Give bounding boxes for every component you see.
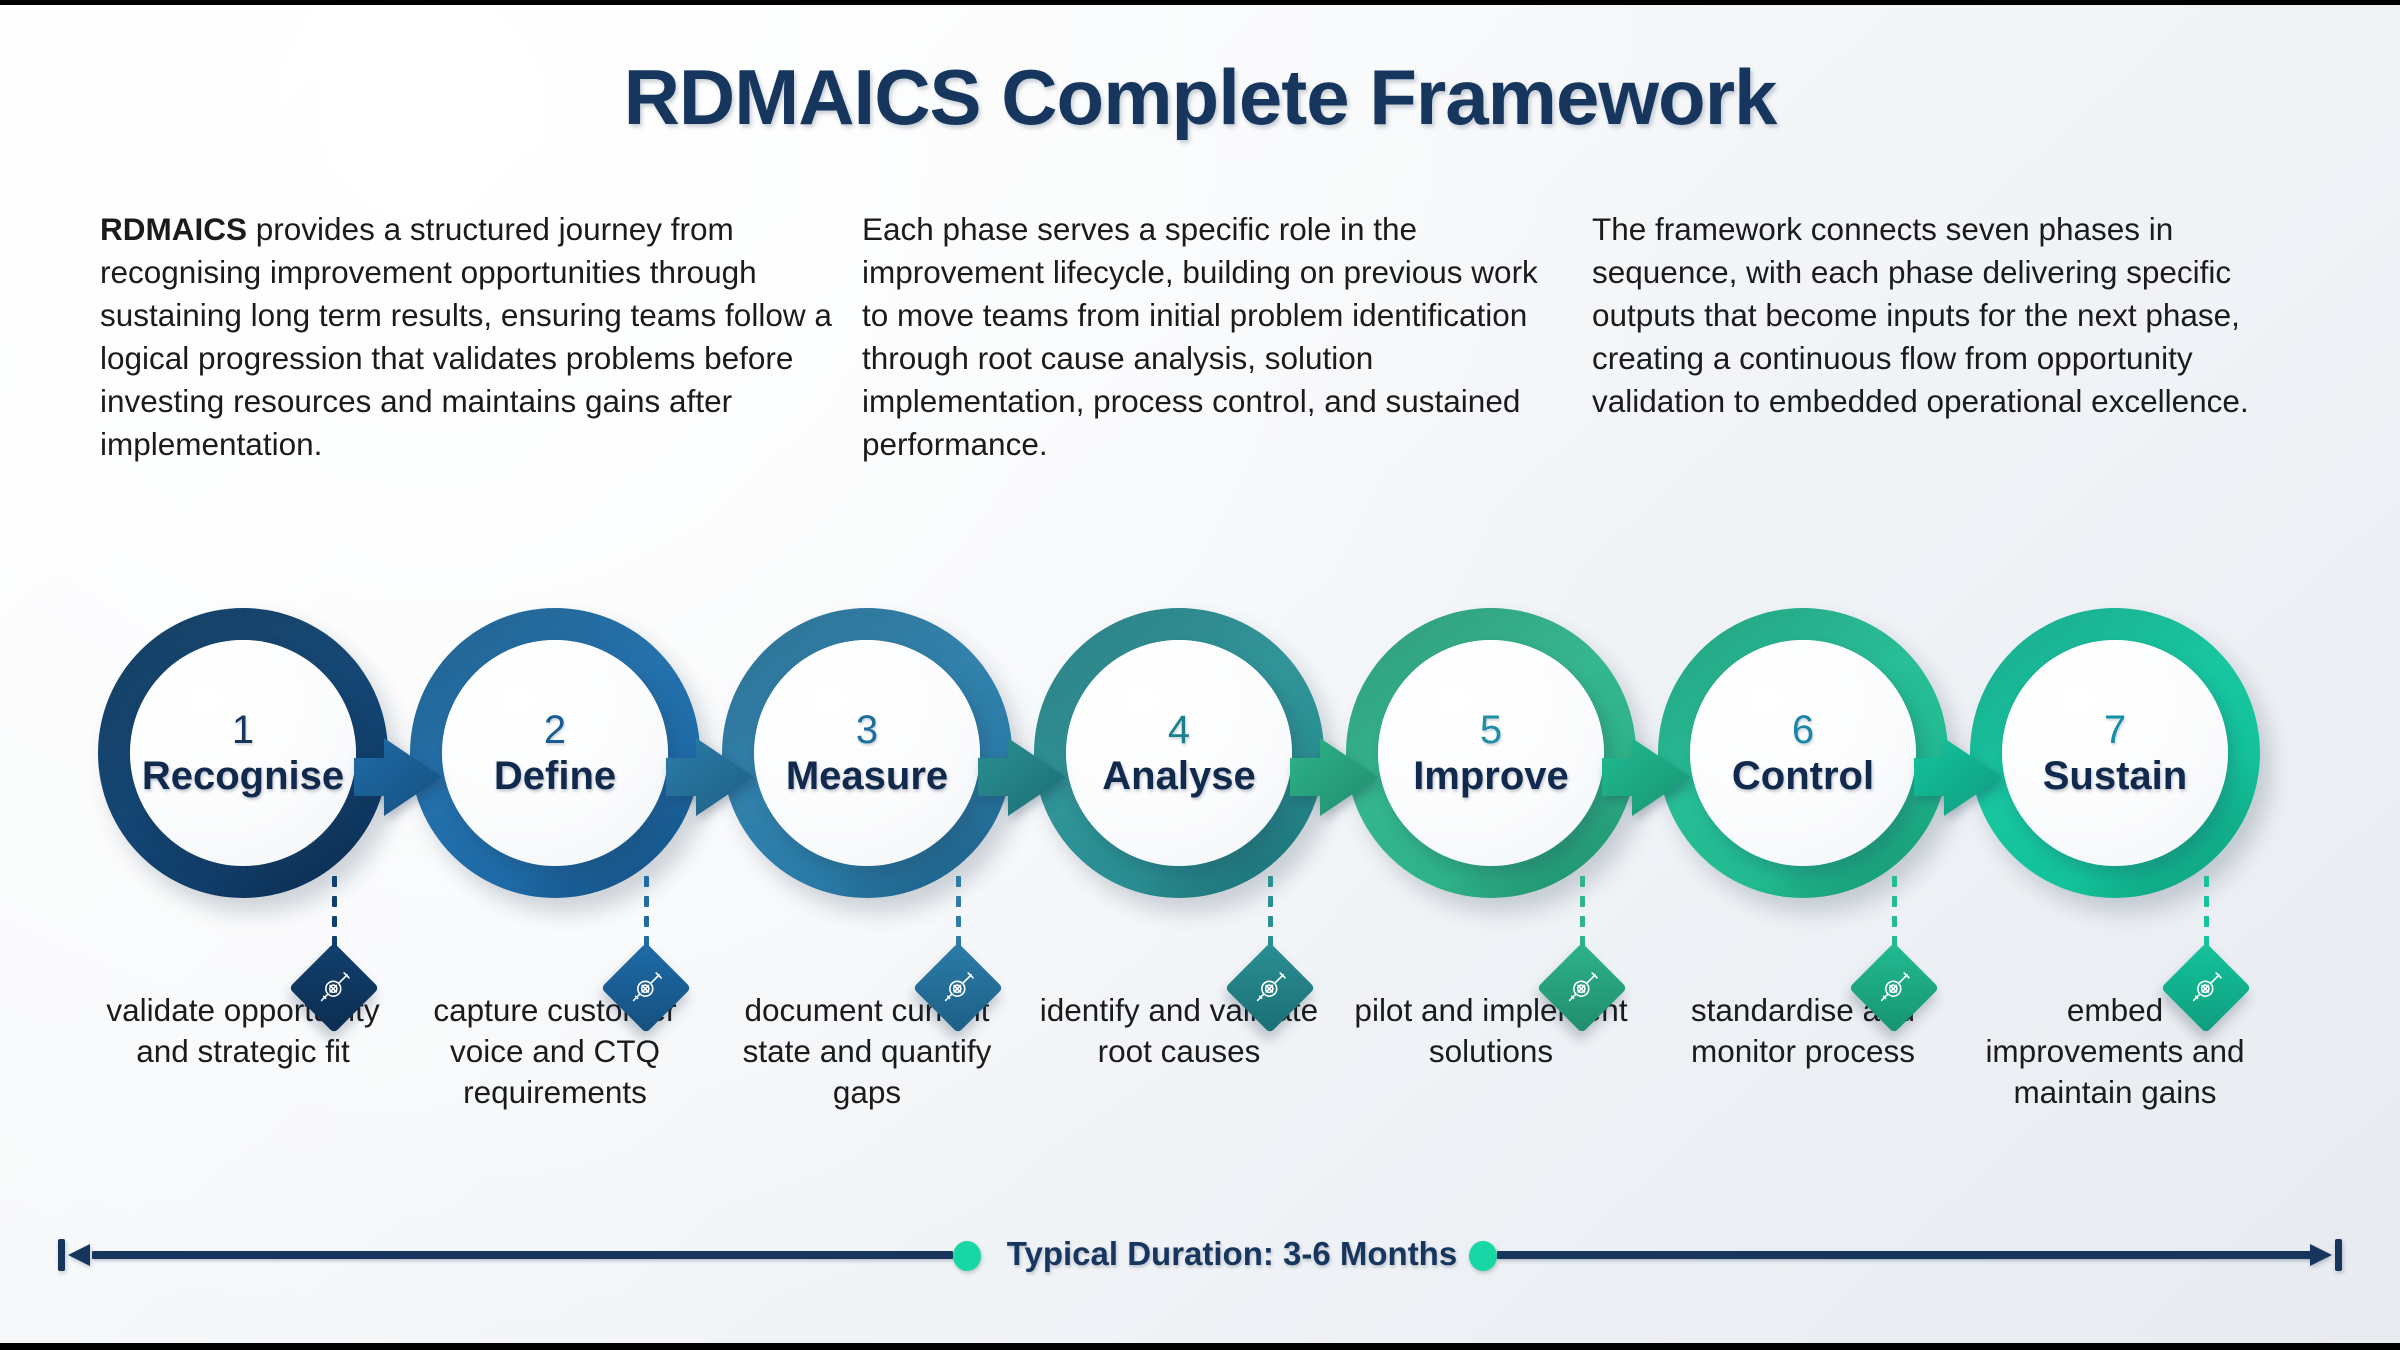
phase-label: Define [494, 756, 616, 796]
intro-paragraph-3: The framework connects seven phases in s… [1592, 208, 2312, 423]
intro-paragraph-1-text: provides a structured journey from recog… [100, 211, 832, 462]
phase-label: Measure [786, 756, 948, 796]
letterbox-top [0, 0, 2400, 5]
phase-number: 5 [1480, 710, 1502, 750]
phase-number: 2 [544, 710, 566, 750]
magnifier-target-icon [1868, 962, 1920, 1014]
phase-number: 4 [1168, 710, 1190, 750]
phase-number: 7 [2104, 710, 2126, 750]
phase-node-analyse[interactable]: 4Analyse [1034, 608, 1324, 898]
magnifier-target-icon [932, 962, 984, 1014]
magnifier-target-icon [1244, 962, 1296, 1014]
phase-node-recognise[interactable]: 1Recognise [98, 608, 388, 898]
phase-label: Control [1732, 756, 1874, 796]
duration-dot-left [953, 1241, 981, 1271]
infographic-canvas: RDMAICS Complete Framework RDMAICS provi… [0, 0, 2400, 1350]
phase-node-measure[interactable]: 3Measure [722, 608, 1012, 898]
phase-sequence: 1Recognise2Define3Measure4Analyse5Improv… [0, 608, 2400, 898]
duration-line-right [1497, 1251, 2312, 1259]
phase-node-define[interactable]: 2Define [410, 608, 700, 898]
letterbox-bottom [0, 1343, 2400, 1350]
flow-arrow-1-to-2 [354, 734, 446, 820]
phase-number: 3 [856, 710, 878, 750]
phase-disc: 2Define [442, 640, 668, 866]
phase-node-improve[interactable]: 5Improve [1346, 608, 1636, 898]
intro-paragraph-2: Each phase serves a specific role in the… [862, 208, 1542, 466]
phase-disc: 7Sustain [2002, 640, 2228, 866]
phase-label: Improve [1413, 756, 1569, 796]
flow-arrow-3-to-4 [978, 734, 1070, 820]
magnifier-target-icon [308, 962, 360, 1014]
phase-node-control[interactable]: 6Control [1658, 608, 1948, 898]
duration-dot-right [1469, 1241, 1497, 1271]
phase-disc: 6Control [1690, 640, 1916, 866]
duration-line-left [92, 1251, 953, 1259]
magnifier-target-icon [1556, 962, 1608, 1014]
magnifier-target-icon [620, 962, 672, 1014]
phase-label: Analyse [1102, 756, 1255, 796]
phase-node-sustain[interactable]: 7Sustain [1970, 608, 2260, 898]
flow-arrow-2-to-3 [666, 734, 758, 820]
intro-columns: RDMAICS provides a structured journey fr… [0, 208, 2400, 508]
phase-captions: validate opportunity and strategic fitca… [0, 990, 2400, 1190]
flow-arrow-4-to-5 [1290, 734, 1382, 820]
intro-paragraph-1: RDMAICS provides a structured journey fr… [100, 208, 840, 466]
phase-label: Recognise [142, 756, 344, 796]
intro-lead-term: RDMAICS [100, 211, 247, 247]
page-title: RDMAICS Complete Framework [0, 52, 2400, 143]
phase-label: Sustain [2043, 756, 2187, 796]
duration-label: Typical Duration: 3-6 Months [1007, 1235, 1457, 1277]
phase-disc: 1Recognise [130, 640, 356, 866]
phase-number: 1 [232, 710, 254, 750]
magnifier-target-icon [2180, 962, 2232, 1014]
duration-bar: Typical Duration: 3-6 Months [0, 1215, 2400, 1291]
flow-arrow-6-to-7 [1914, 734, 2006, 820]
phase-disc: 4Analyse [1066, 640, 1292, 866]
phase-number: 6 [1792, 710, 1814, 750]
phase-disc: 3Measure [754, 640, 980, 866]
phase-disc: 5Improve [1378, 640, 1604, 866]
duration-arrow-right-icon [2300, 1233, 2344, 1277]
flow-arrow-5-to-6 [1602, 734, 1694, 820]
